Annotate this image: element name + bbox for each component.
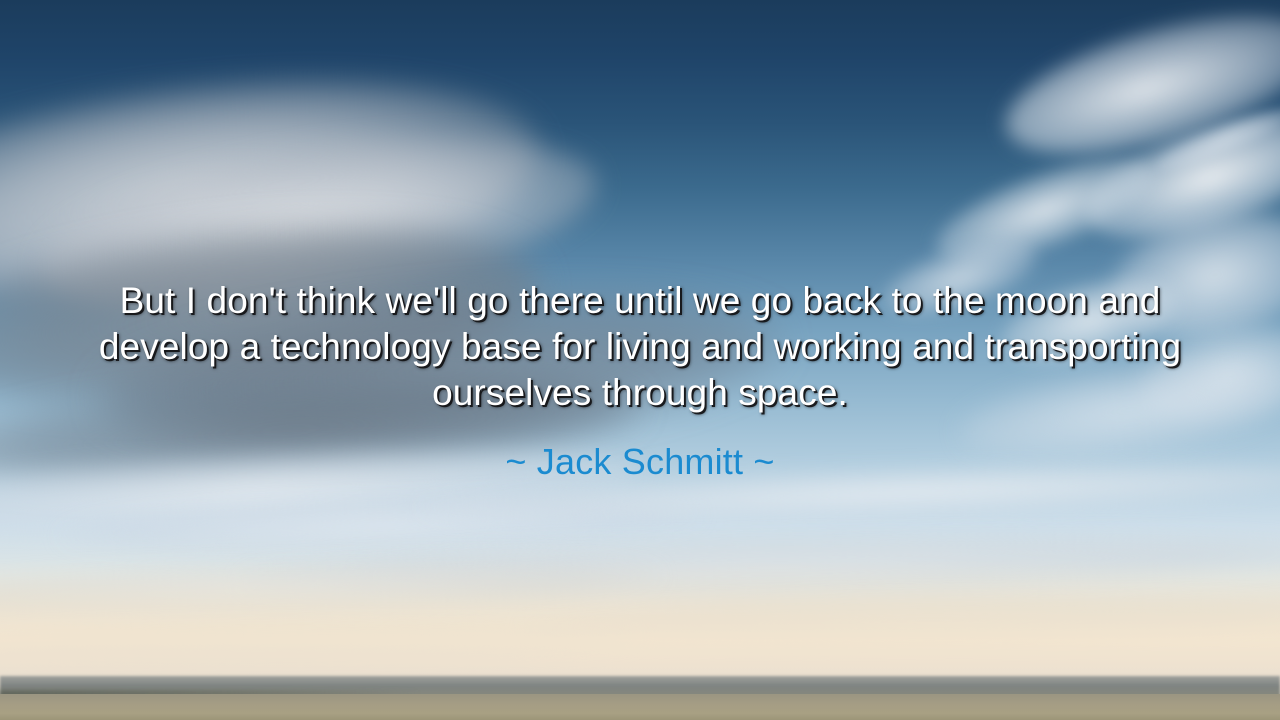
quote-author: ~ Jack Schmitt ~ <box>505 441 774 483</box>
quote-text: But I don't think we'll go there until w… <box>85 278 1195 416</box>
quote-image-card: But I don't think we'll go there until w… <box>0 0 1280 720</box>
text-overlay: But I don't think we'll go there until w… <box>0 0 1280 720</box>
